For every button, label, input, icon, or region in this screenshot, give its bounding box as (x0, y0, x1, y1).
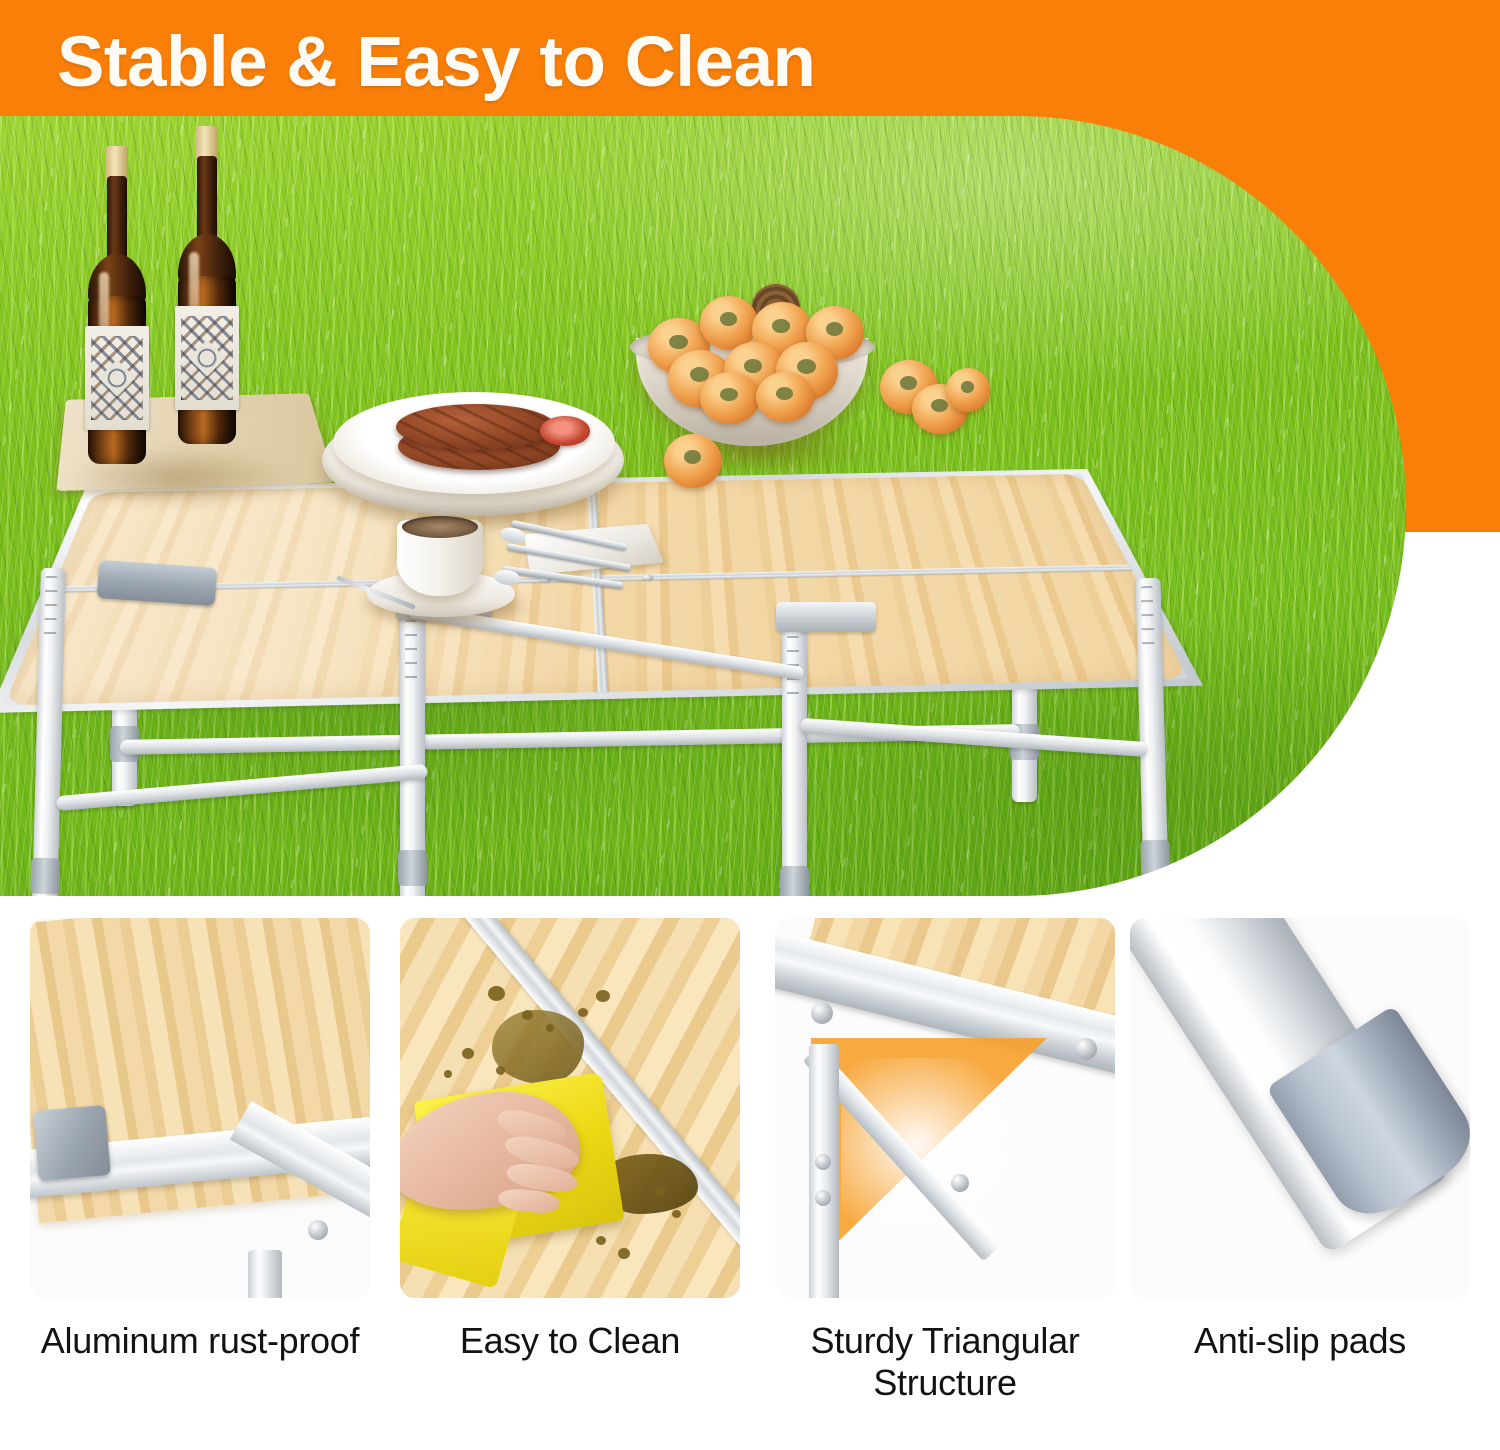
vertical-post (809, 1044, 839, 1298)
page-title: Stable & Easy to Clean (57, 22, 815, 103)
tomato-slice (540, 416, 590, 446)
feature-card-aluminum-rust-proof[interactable]: Aluminum rust-proof (30, 918, 370, 1362)
table-leg (248, 1250, 282, 1298)
screw-icon (811, 1002, 833, 1024)
tabletop-props (0, 116, 1406, 896)
persimmon (700, 372, 760, 424)
feature-card-anti-slip-pads[interactable]: Anti-slip pads (1130, 918, 1470, 1362)
feature-card-sturdy-triangular-structure[interactable]: Sturdy Triangular Structure (775, 918, 1115, 1405)
rivet-icon (951, 1174, 969, 1192)
feature-image-tabletop-corner-closeup (30, 918, 370, 1298)
persimmon-loose-front (664, 434, 722, 488)
bottle-label (175, 306, 239, 410)
feature-image-triangular-brace-closeup (775, 918, 1115, 1298)
feature-caption: Sturdy Triangular Structure (775, 1320, 1115, 1405)
burger-patty-top (396, 404, 556, 450)
liquid-spill (492, 1010, 584, 1084)
screw-icon (1075, 1038, 1097, 1060)
glow-overlay (841, 1058, 1031, 1248)
feature-image-leg-foot-pad-closeup (1130, 918, 1470, 1298)
feature-caption: Anti-slip pads (1130, 1320, 1470, 1362)
screw-icon (308, 1220, 328, 1240)
rivet-icon (815, 1190, 831, 1206)
persimmon-loose-right (946, 368, 990, 412)
coffee-liquid (402, 516, 478, 538)
feature-image-hand-wiping-spill-closeup (400, 918, 740, 1298)
latch-clip (33, 1105, 111, 1181)
rivet-icon (815, 1154, 831, 1170)
bottle-label (85, 326, 149, 430)
hero-image (0, 116, 1406, 896)
feature-grid: Aluminum rust-proof (0, 918, 1500, 1450)
feature-caption: Easy to Clean (400, 1320, 740, 1362)
feature-caption: Aluminum rust-proof (30, 1320, 370, 1362)
feature-card-easy-to-clean[interactable]: Easy to Clean (400, 918, 740, 1362)
product-feature-page: Stable & Easy to Clean (0, 0, 1500, 1450)
persimmon (756, 372, 814, 422)
